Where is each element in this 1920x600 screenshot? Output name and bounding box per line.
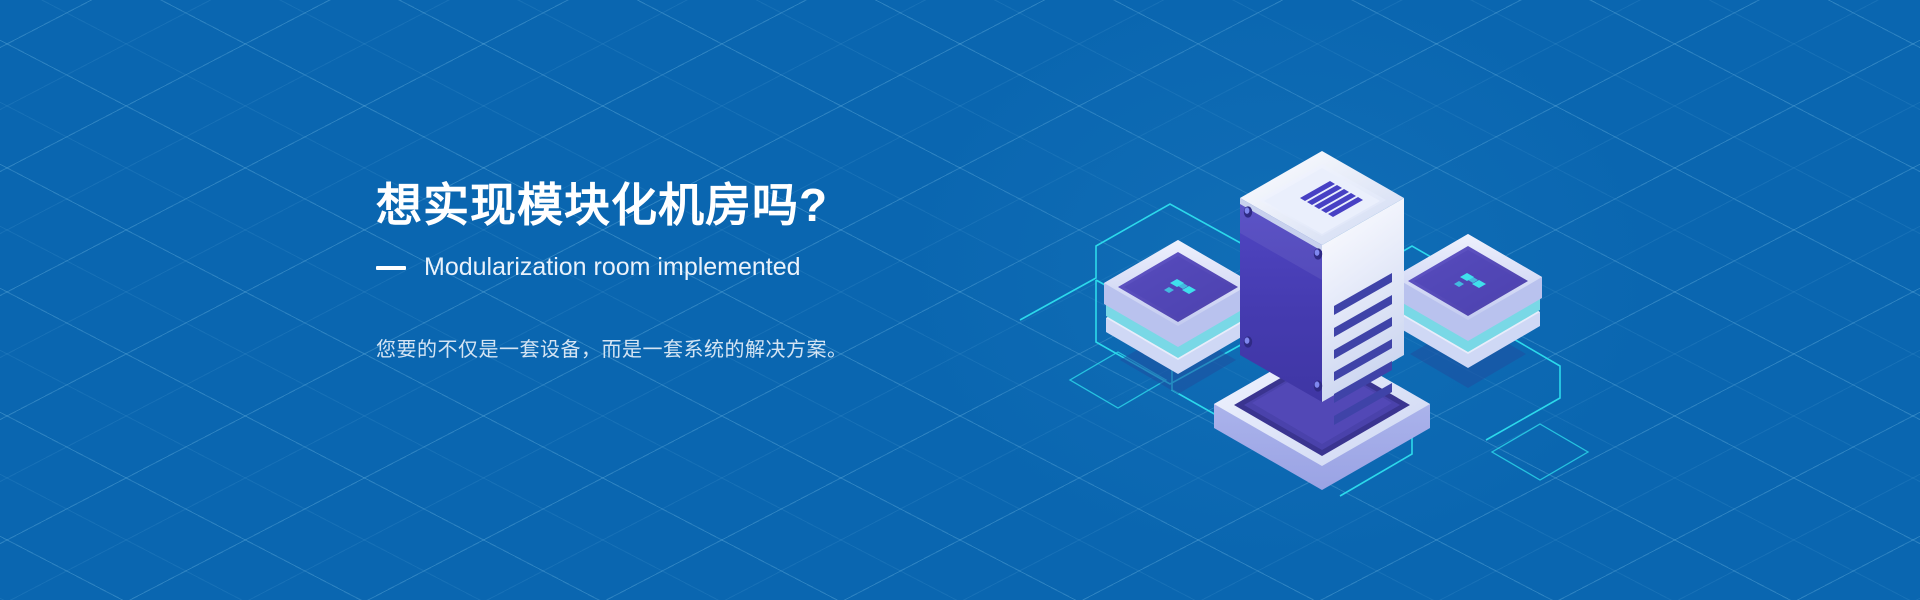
page-title: 想实现模块化机房吗? xyxy=(376,178,996,232)
dash-rule-icon xyxy=(376,266,406,270)
hero-copy: 想实现模块化机房吗? Modularization room implement… xyxy=(376,178,996,366)
hero-illustration xyxy=(1000,80,1620,500)
subtitle-row: Modularization room implemented xyxy=(376,254,996,282)
server-tower xyxy=(1214,151,1430,490)
hero-description: 您要的不仅是一套设备，而是一套系统的解决方案。 xyxy=(376,282,996,366)
hero-banner: 想实现模块化机房吗? Modularization room implement… xyxy=(0,0,1920,600)
page-subtitle: Modularization room implemented xyxy=(424,254,801,282)
chip-module-right xyxy=(1394,234,1542,368)
chip-module-left xyxy=(1104,240,1252,374)
